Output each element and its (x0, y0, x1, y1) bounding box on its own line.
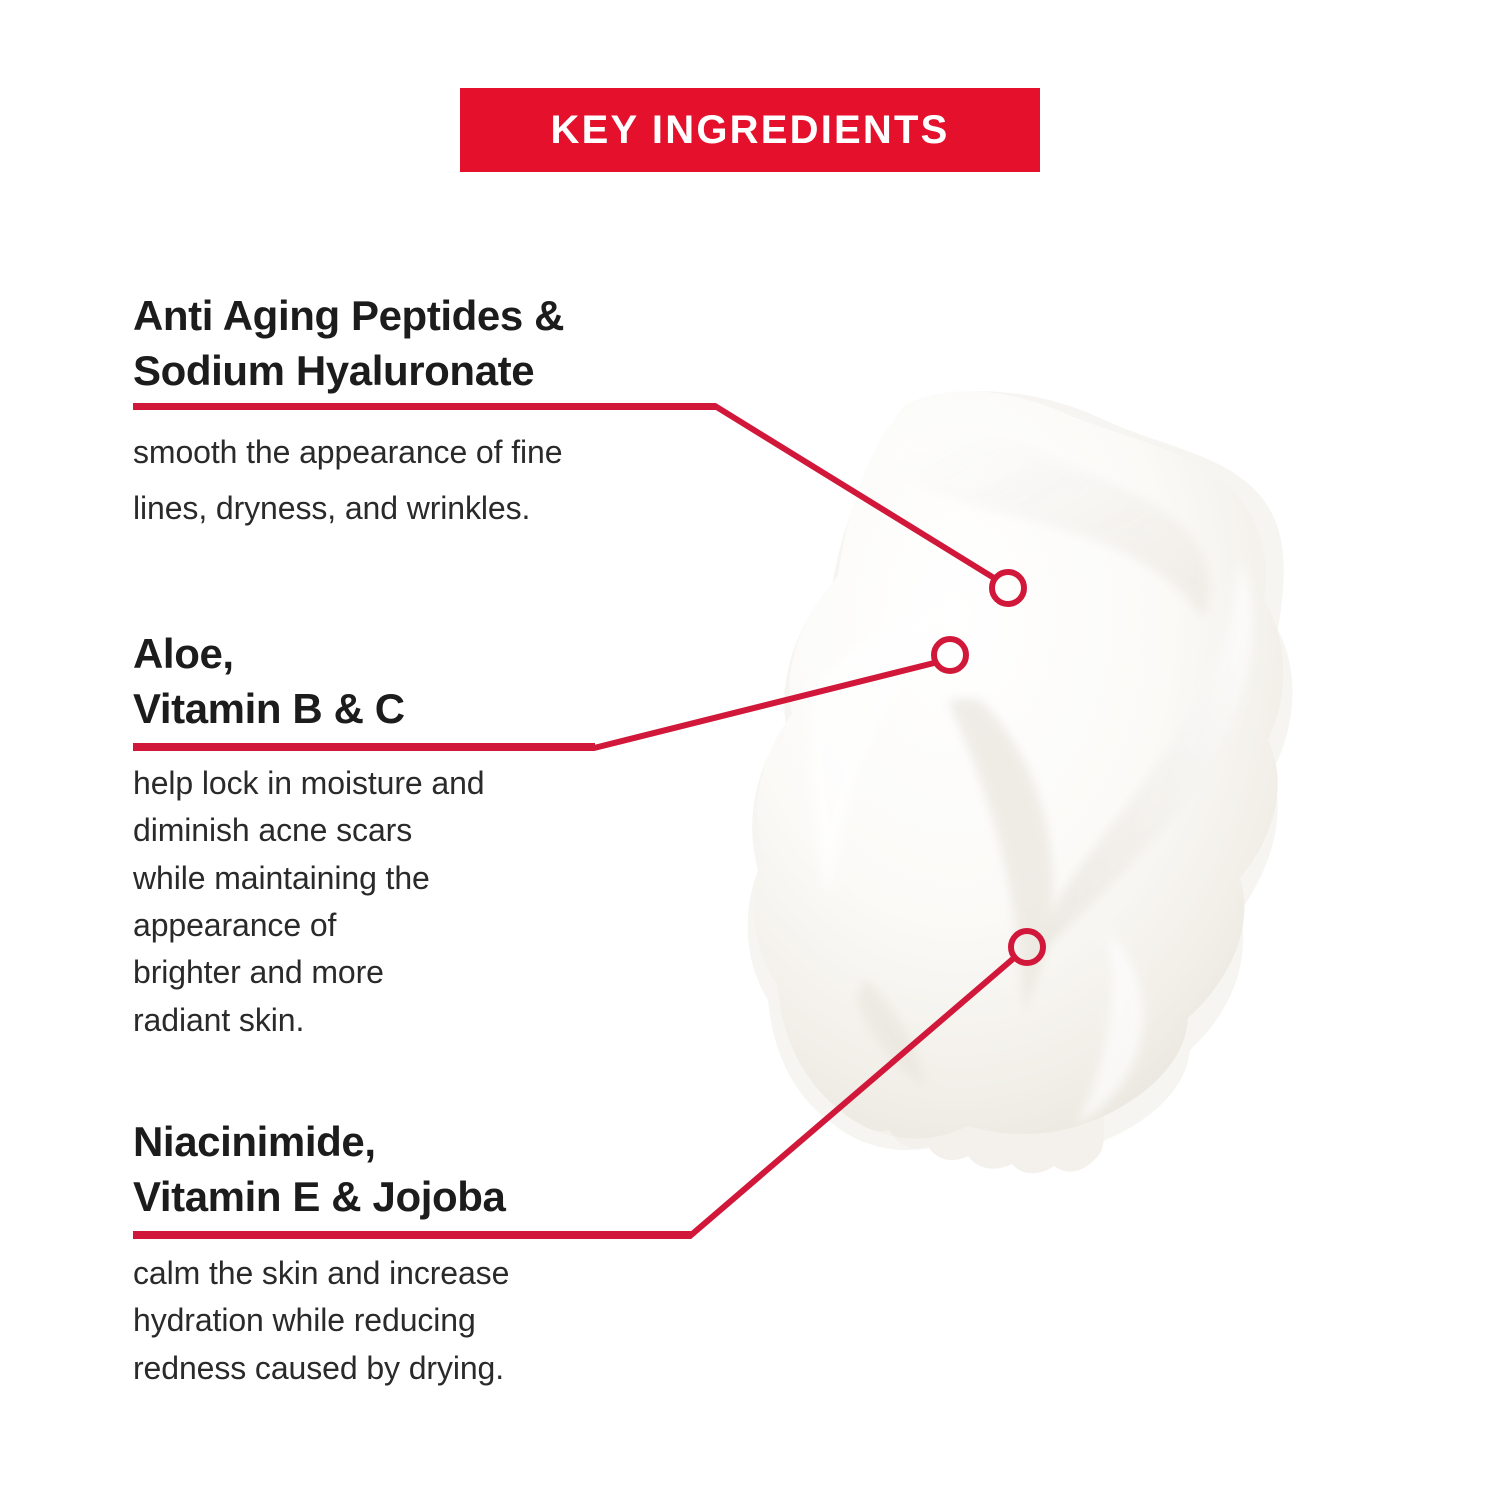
ingredient-heading-1: Anti Aging Peptides & Sodium Hyaluronate (133, 288, 717, 399)
cream-swatch (748, 391, 1293, 1173)
key-ingredients-banner: KEY INGREDIENTS (460, 88, 1040, 172)
callout-marker-1 (992, 572, 1024, 604)
ingredient-heading-2: Aloe, Vitamin B & C (133, 626, 595, 737)
ingredient-block-1: Anti Aging Peptides & Sodium Hyaluronate… (133, 288, 717, 536)
ingredient-body-1: smooth the appearance of fine lines, dry… (133, 410, 717, 536)
callout-marker-2 (934, 639, 966, 671)
ingredient-body-2: help lock in moisture and diminish acne … (133, 748, 595, 1044)
ingredient-block-3: Niacinimide, Vitamin E & Jojoba calm the… (133, 1114, 691, 1392)
ingredient-body-3: calm the skin and increase hydration whi… (133, 1236, 691, 1392)
page-title: KEY INGREDIENTS (551, 110, 950, 150)
callout-marker-3 (1011, 931, 1043, 963)
ingredient-block-2: Aloe, Vitamin B & C help lock in moistur… (133, 626, 595, 1044)
ingredient-heading-3: Niacinimide, Vitamin E & Jojoba (133, 1114, 691, 1225)
key-ingredients-infographic: KEY INGREDIENTS (0, 0, 1500, 1500)
